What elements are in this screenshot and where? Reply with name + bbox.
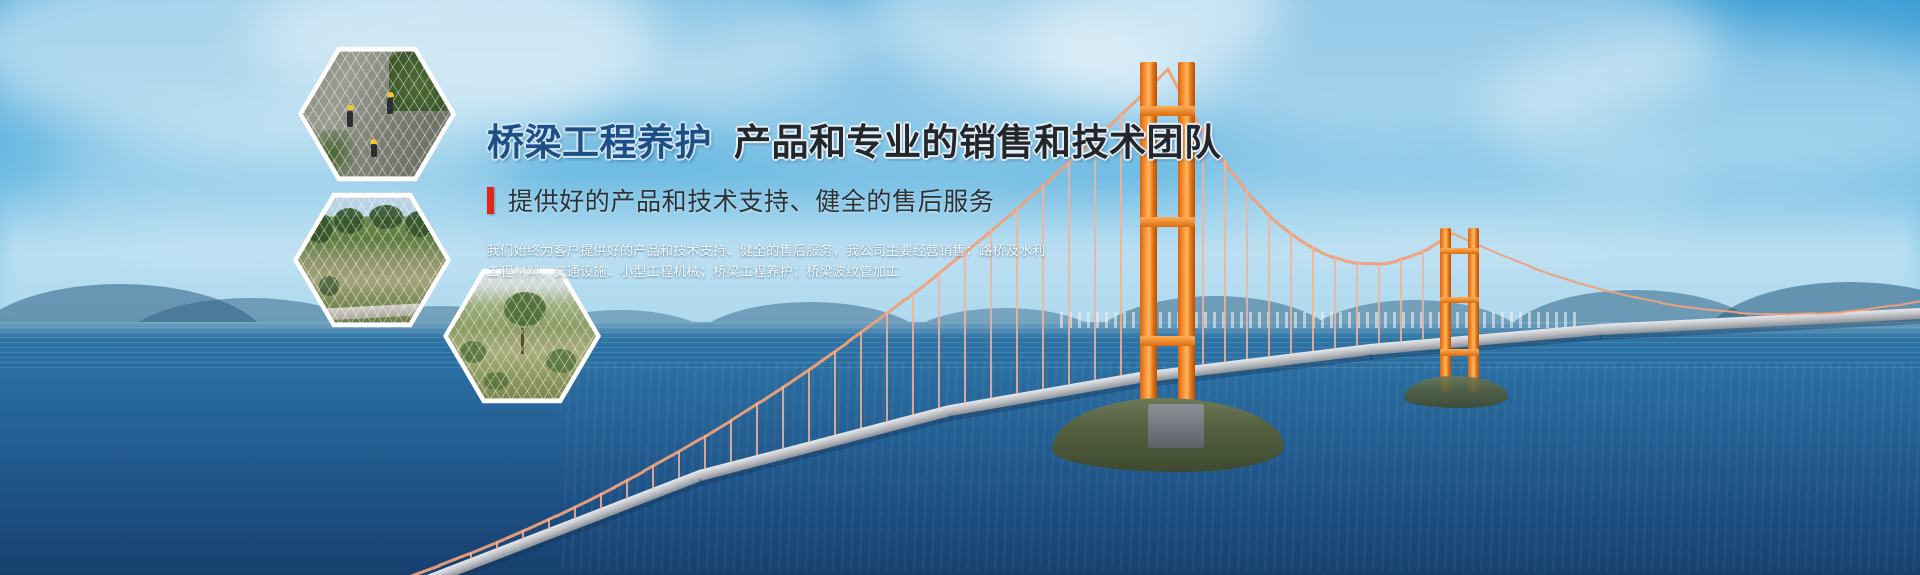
bridge-hanger bbox=[1378, 262, 1380, 343]
hex-photo-3[interactable] bbox=[443, 266, 601, 406]
bridge-main-cable bbox=[1504, 255, 1532, 267]
mesh-overlay-icon bbox=[448, 271, 596, 401]
bridge-hanger bbox=[704, 435, 706, 469]
bridge-main-cable bbox=[1712, 309, 1739, 313]
headline: 桥梁工程养护产品和专业的销售和技术团队 bbox=[487, 124, 1327, 161]
hex-photo-1[interactable] bbox=[298, 44, 456, 184]
bridge-main-cable bbox=[759, 381, 791, 403]
photo-green-slope-mesh bbox=[298, 195, 446, 325]
bridge-hanger bbox=[470, 552, 472, 558]
bridge-hanger bbox=[496, 542, 498, 549]
bridge-main-cable bbox=[1894, 300, 1920, 307]
hex-photo-2[interactable] bbox=[293, 190, 451, 330]
bridge-hanger bbox=[652, 465, 654, 488]
bridge-hanger bbox=[1400, 259, 1402, 342]
bridge-hanger bbox=[626, 479, 628, 498]
hero-banner: 桥梁工程养护产品和专业的销售和技术团队 提供好的产品和技术支持、健全的售后服务 … bbox=[0, 0, 1920, 575]
bridge-hanger bbox=[756, 403, 758, 455]
photo-rock-slope-mesh bbox=[303, 49, 451, 179]
body-line-2: 工程材料、交通设施、小型工程机械；桥梁工程养护；桥梁波纹管加工 bbox=[487, 261, 907, 282]
worker-figure bbox=[387, 98, 393, 114]
subheadline-text: 提供好的产品和技术支持、健全的售后服务 bbox=[508, 182, 994, 218]
headline-primary: 桥梁工程养护 bbox=[487, 122, 712, 163]
bridge-hanger bbox=[522, 530, 524, 538]
headline-secondary: 产品和专业的销售和技术团队 bbox=[734, 122, 1222, 163]
bridge-hanger bbox=[808, 369, 810, 442]
bridge-hanger bbox=[860, 332, 862, 428]
bridge-main-cable bbox=[846, 320, 878, 344]
bridge-hanger bbox=[912, 293, 914, 415]
bridge-main-cable bbox=[1478, 244, 1506, 257]
bridge-main-cable bbox=[1365, 262, 1377, 265]
bridge-main-cable bbox=[788, 361, 820, 384]
bridge-hanger bbox=[574, 506, 576, 519]
helmet-icon bbox=[370, 139, 377, 144]
bridge-hanger bbox=[938, 273, 940, 409]
bridge-main-cable bbox=[1660, 302, 1687, 308]
subheadline-row: 提供好的产品和技术支持、健全的售后服务 bbox=[487, 182, 1327, 218]
bridge-hanger bbox=[1334, 256, 1336, 348]
bridge-tower bbox=[1440, 228, 1479, 392]
bridge-hanger bbox=[730, 420, 732, 463]
bridge-hanger bbox=[782, 386, 784, 449]
mesh-overlay-icon bbox=[298, 195, 446, 325]
bridge-hanger bbox=[834, 351, 836, 436]
bridge-island bbox=[1404, 376, 1508, 408]
banner-copy: 桥梁工程养护产品和专业的销售和技术团队 提供好的产品和技术支持、健全的售后服务 … bbox=[487, 124, 1327, 282]
bridge-main-cable bbox=[1764, 313, 1791, 315]
bridge-hanger bbox=[886, 313, 888, 422]
body-line-1: 我们始终为客户提供好的产品和技术支持、健全的售后服务，我公司主要经营销售：路桥及… bbox=[487, 240, 907, 261]
bridge-main-cable bbox=[1556, 275, 1584, 285]
body-paragraph: 我们始终为客户提供好的产品和技术支持、健全的售后服务，我公司主要经营销售：路桥及… bbox=[487, 240, 907, 282]
bridge-main-cable bbox=[1686, 306, 1713, 311]
bridge-hanger bbox=[548, 518, 550, 528]
photo-shrub-slope-mesh bbox=[448, 271, 596, 401]
worker-figure bbox=[371, 144, 377, 157]
bridge-main-cable bbox=[1608, 290, 1635, 298]
bridge-deck bbox=[418, 470, 704, 575]
bridge-main-cable bbox=[1582, 283, 1609, 292]
bridge-pier bbox=[1148, 404, 1204, 448]
bridge-main-cable bbox=[1530, 266, 1558, 277]
bridge-hanger bbox=[678, 451, 680, 479]
bridge-hanger bbox=[600, 493, 602, 509]
bridge-main-cable bbox=[876, 298, 908, 323]
bridge-main-cable bbox=[1634, 296, 1661, 303]
bridge-hanger bbox=[1422, 251, 1424, 340]
worker-figure bbox=[347, 111, 353, 127]
mesh-overlay-icon bbox=[303, 49, 451, 179]
bridge-main-cable bbox=[1738, 312, 1765, 315]
bridge-main-cable bbox=[642, 454, 673, 473]
accent-bar-icon bbox=[487, 187, 494, 214]
helmet-icon bbox=[387, 92, 394, 97]
helmet-icon bbox=[347, 105, 354, 110]
bridge-main-cable bbox=[613, 470, 644, 489]
bridge-hanger bbox=[1356, 262, 1358, 346]
